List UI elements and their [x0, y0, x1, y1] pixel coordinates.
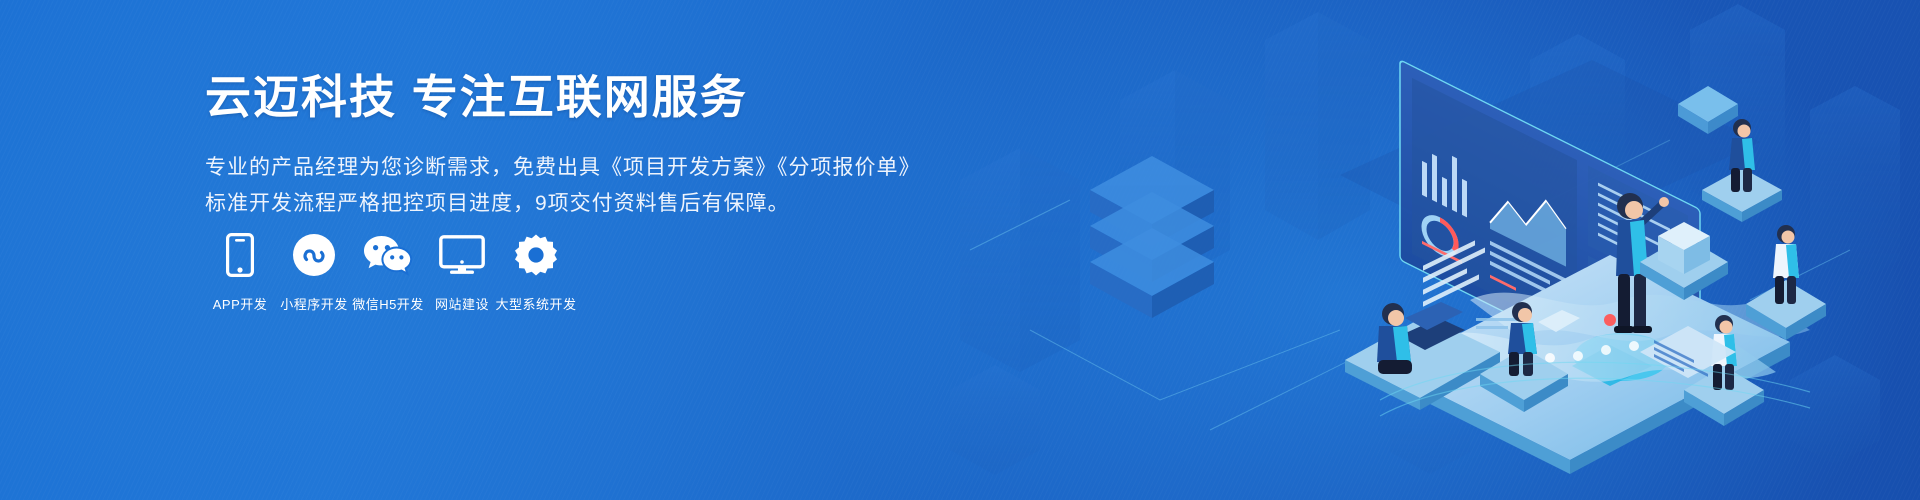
- hero-banner: 云迈科技 专注互联网服务 专业的产品经理为您诊断需求，免费出具《项目开发方案》《…: [0, 0, 1920, 500]
- service-item-large-system[interactable]: 大型系统开发: [499, 232, 573, 313]
- service-label: APP开发: [213, 294, 268, 313]
- subtitle-line-1: 专业的产品经理为您诊断需求，免费出具《项目开发方案》《分项报价单》: [205, 150, 925, 186]
- monitor-icon: [439, 232, 485, 278]
- mini-program-icon: [292, 232, 336, 278]
- service-label: 大型系统开发: [496, 294, 577, 313]
- service-label: 微信H5开发: [352, 294, 424, 313]
- banner-text-block: 云迈科技 专注互联网服务 专业的产品经理为您诊断需求，免费出具《项目开发方案》《…: [205, 66, 925, 222]
- wechat-icon: [363, 232, 413, 278]
- banner-subtitle: 专业的产品经理为您诊断需求，免费出具《项目开发方案》《分项报价单》 标准开发流程…: [205, 150, 925, 222]
- service-item-wechat-h5[interactable]: 微信H5开发: [351, 232, 425, 313]
- service-item-website[interactable]: 网站建设: [425, 232, 499, 313]
- service-label: 小程序开发: [280, 294, 348, 313]
- mobile-phone-icon: [226, 232, 254, 278]
- service-label: 网站建设: [435, 294, 489, 313]
- service-item-app[interactable]: APP开发: [203, 232, 277, 313]
- subtitle-line-2: 标准开发流程严格把控项目进度，9项交付资料售后有保障。: [205, 186, 925, 222]
- service-item-mini-program[interactable]: 小程序开发: [277, 232, 351, 313]
- page-title: 云迈科技 专注互联网服务: [205, 66, 925, 128]
- isometric-data-dashboard-illustration: [910, 0, 1920, 500]
- service-list: APP开发 小程序开发 微信: [203, 232, 573, 313]
- gear-icon: [515, 232, 557, 278]
